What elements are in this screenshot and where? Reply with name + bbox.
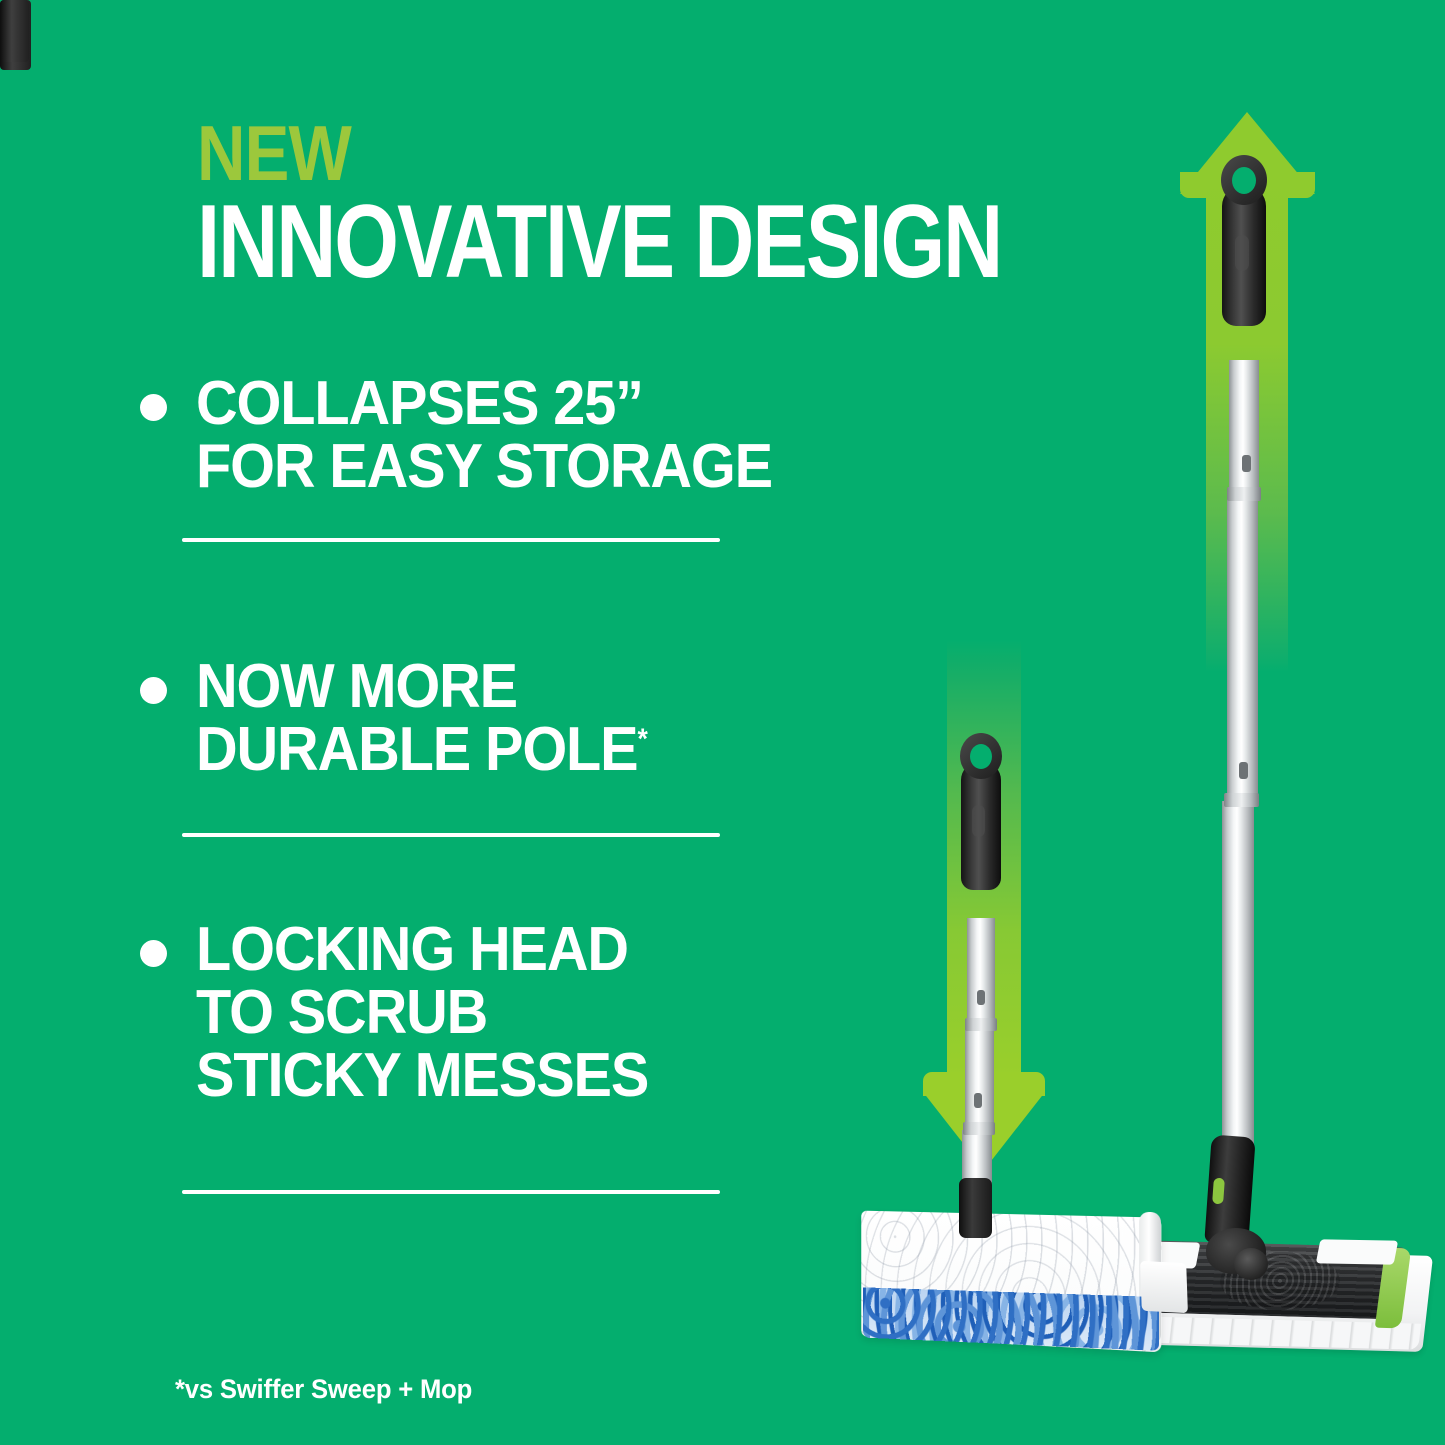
ring-hole-short [970, 744, 992, 769]
bullet-line-text: DURABLE POLE [196, 715, 638, 784]
eyebrow-new: NEW [197, 119, 351, 188]
blue-scrub-strip [863, 1287, 1159, 1351]
hub-green-accent [1212, 1178, 1225, 1205]
divider [182, 1190, 720, 1194]
swiffer-innovative-design-ad: NEW INNOVATIVE DESIGN COLLAPSES 25” FOR … [0, 0, 1445, 1445]
bullet-dot-icon [140, 394, 167, 421]
bullet-line: COLLAPSES 25” [196, 372, 795, 435]
pole-joint-upper [1227, 487, 1261, 501]
collapsed-pole-joint-lower [963, 1122, 995, 1135]
bullet-dot-icon [140, 677, 167, 704]
bullet-line: STICKY MESSES [196, 1044, 795, 1107]
bullet-line: FOR EASY STORAGE [196, 435, 795, 498]
list-item: NOW MORE DURABLE POLE* [140, 655, 840, 781]
collapsed-mop-hub [959, 1178, 992, 1238]
collapsed-pole-notch [977, 990, 985, 1005]
bullet-line: LOCKING HEAD [196, 918, 795, 981]
wet-pad-mop-head [855, 1214, 1157, 1350]
pole-segment-lower [1222, 801, 1254, 1149]
footnote-text: *vs Swiffer Sweep + Mop [175, 1374, 472, 1405]
pole-lock-notch [1242, 455, 1251, 472]
copy-column: NEW INNOVATIVE DESIGN COLLAPSES 25” FOR … [0, 0, 860, 1445]
bullet-line: NOW MORE [196, 655, 795, 718]
collapsed-pole-middle [965, 1026, 994, 1131]
ring-hole [1232, 167, 1256, 194]
hanging-ring-icon-short [960, 733, 1002, 779]
swivel-knob [1234, 1248, 1268, 1280]
pole-segment-upper [1229, 360, 1259, 500]
bullet-text-block: COLLAPSES 25” FOR EASY STORAGE [196, 372, 795, 498]
pole-segment-middle [1227, 496, 1258, 806]
grip-button [1235, 235, 1249, 271]
collapsed-pole-upper [967, 918, 995, 1028]
pole-lock-notch-lower [1239, 762, 1248, 779]
footnote-asterisk: * [638, 724, 648, 756]
list-item: LOCKING HEAD TO SCRUB STICKY MESSES [140, 918, 840, 1108]
collapsed-pole-notch-lower [974, 1093, 982, 1108]
bullet-line: DURABLE POLE* [196, 718, 795, 781]
list-item: COLLAPSES 25” FOR EASY STORAGE [140, 372, 840, 498]
wet-pad-side-cap [1140, 1261, 1188, 1313]
page-title: INNOVATIVE DESIGN [197, 196, 1001, 290]
bullet-dot-icon [140, 940, 167, 967]
hanging-ring-icon [1221, 155, 1267, 205]
bullet-line: TO SCRUB [196, 981, 795, 1044]
bullet-text-block: LOCKING HEAD TO SCRUB STICKY MESSES [196, 918, 795, 1108]
bullet-text-block: NOW MORE DURABLE POLE* [196, 655, 795, 781]
collapsed-pole-joint-upper [965, 1018, 997, 1031]
divider [182, 538, 720, 542]
cloth-flap-right [1316, 1239, 1398, 1264]
pole-joint-lower [1224, 793, 1259, 807]
divider [182, 833, 720, 837]
grip-button-short [972, 805, 985, 837]
